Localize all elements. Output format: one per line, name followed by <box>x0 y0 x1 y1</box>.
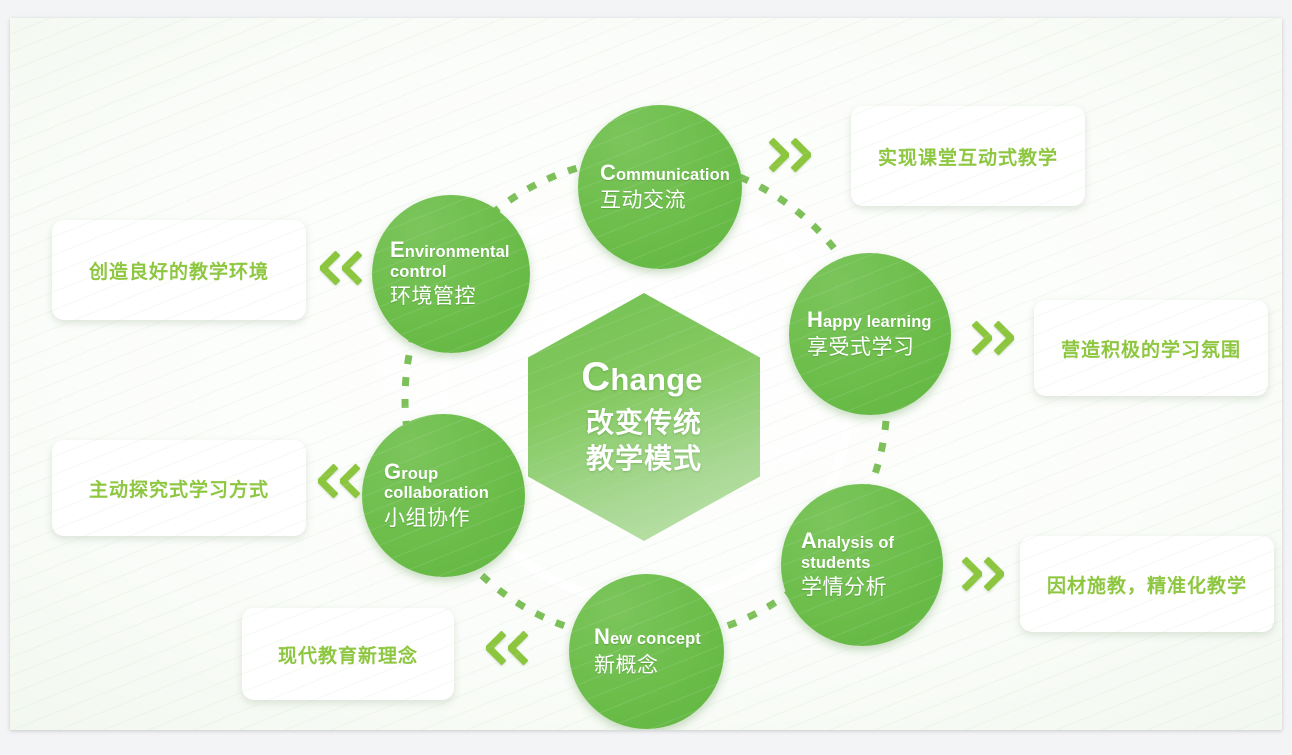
center-chinese-line-1: 改变传统 <box>586 405 702 441</box>
node-happy-learning-english-rest: appy learning <box>823 313 932 331</box>
node-communication-chinese: 互动交流 <box>600 188 742 213</box>
callout-good-teaching-env[interactable]: 创造良好的教学环境 <box>52 220 306 320</box>
node-environment-english-rest: nvironmental control <box>390 243 510 281</box>
node-group-chinese: 小组协作 <box>384 506 525 531</box>
callout-interactive-teaching-label: 实现课堂互动式教学 <box>878 143 1058 170</box>
node-new-concept[interactable]: New concept 新概念 <box>569 574 724 729</box>
chevron-left-2 <box>318 464 360 498</box>
callout-positive-atmosphere-label: 营造积极的学习氛围 <box>1061 335 1241 362</box>
center-chinese-line-2: 教学模式 <box>586 441 702 477</box>
callout-positive-atmosphere[interactable]: 营造积极的学习氛围 <box>1034 300 1268 396</box>
chevron-right-1 <box>769 138 811 172</box>
chevron-right-icon <box>769 138 789 172</box>
chevron-left-icon <box>342 251 362 285</box>
chevron-left-1 <box>486 631 528 665</box>
callout-good-teaching-env-label: 创造良好的教学环境 <box>89 257 269 284</box>
node-happy-learning-initial: H <box>807 307 823 332</box>
node-analysis-english: Analysis of students <box>801 529 943 572</box>
node-communication-english: Communication <box>600 161 742 186</box>
node-communication[interactable]: Communication 互动交流 <box>578 105 742 269</box>
node-new-concept-initial: N <box>594 624 610 649</box>
callout-interactive-teaching[interactable]: 实现课堂互动式教学 <box>851 106 1085 206</box>
slide-canvas: Change 改变传统 教学模式 Communication 互动交流 Happ… <box>10 18 1282 730</box>
chevron-left-3 <box>320 251 362 285</box>
node-happy-learning-chinese: 享受式学习 <box>807 335 951 360</box>
chevron-right-icon <box>994 321 1014 355</box>
node-analysis-chinese: 学情分析 <box>801 575 943 600</box>
node-new-concept-chinese: 新概念 <box>594 653 724 678</box>
node-environment-chinese: 环境管控 <box>390 284 530 309</box>
chevron-right-icon <box>962 557 982 591</box>
node-group-english: Group collaboration <box>384 460 525 503</box>
node-communication-english-rest: ommunication <box>616 166 730 184</box>
node-environment-english: Environmental control <box>390 238 530 281</box>
chevron-right-2 <box>972 321 1014 355</box>
node-happy-learning-english: Happy learning <box>807 308 951 333</box>
center-english-initial: C <box>581 355 610 399</box>
callout-active-inquiry-learning-label: 主动探究式学习方式 <box>89 475 269 502</box>
diagram-root: Change 改变传统 教学模式 Communication 互动交流 Happ… <box>0 0 1292 755</box>
node-environment-initial: E <box>390 237 405 262</box>
chevron-right-icon <box>984 557 1004 591</box>
node-new-concept-english-rest: ew concept <box>610 630 701 648</box>
chevron-left-icon <box>320 251 340 285</box>
node-group-initial: G <box>384 459 401 484</box>
chevron-left-icon <box>486 631 506 665</box>
callout-tailored-teaching[interactable]: 因材施教，精准化教学 <box>1020 536 1274 632</box>
node-happy-learning[interactable]: Happy learning 享受式学习 <box>789 253 951 415</box>
chevron-left-icon <box>318 464 338 498</box>
node-analysis-initial: A <box>801 528 817 553</box>
callout-modern-education-idea[interactable]: 现代教育新理念 <box>242 608 454 700</box>
chevron-right-icon <box>972 321 992 355</box>
chevron-left-icon <box>508 631 528 665</box>
node-communication-initial: C <box>600 160 616 185</box>
node-group-collaboration[interactable]: Group collaboration 小组协作 <box>362 414 525 577</box>
center-english-rest: hange <box>610 362 702 397</box>
callout-active-inquiry-learning[interactable]: 主动探究式学习方式 <box>52 440 306 536</box>
center-english-label: Change <box>581 357 702 397</box>
chevron-left-icon <box>340 464 360 498</box>
chevron-right-3 <box>962 557 1004 591</box>
callout-tailored-teaching-label: 因材施教，精准化教学 <box>1047 571 1247 598</box>
node-new-concept-english: New concept <box>594 625 724 650</box>
node-analysis-of-students[interactable]: Analysis of students 学情分析 <box>781 484 943 646</box>
callout-modern-education-idea-label: 现代教育新理念 <box>278 641 418 668</box>
center-chinese-label: 改变传统 教学模式 <box>586 405 702 477</box>
node-environmental-control[interactable]: Environmental control 环境管控 <box>372 195 530 353</box>
chevron-right-icon <box>791 138 811 172</box>
